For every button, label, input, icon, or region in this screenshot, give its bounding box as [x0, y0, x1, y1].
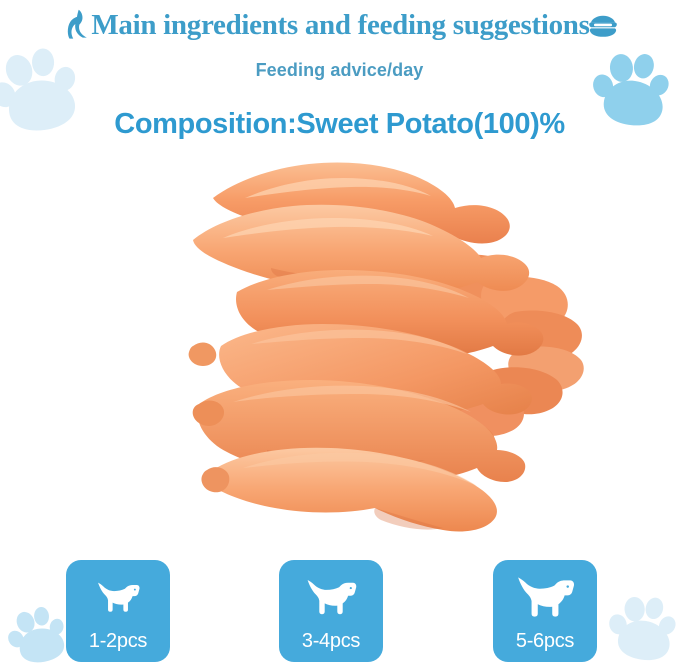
- feeding-label: 3-4pcs: [302, 631, 360, 662]
- feeding-label: 5-6pcs: [516, 631, 574, 662]
- large-dog-icon: [493, 560, 597, 631]
- feeding-box-medium-dog[interactable]: 3-4pcs: [279, 560, 383, 662]
- subtitle: Feeding advice/day: [0, 60, 679, 81]
- medium-dog-icon: [279, 560, 383, 631]
- page-title: Main ingredients and feeding suggestions: [91, 11, 589, 40]
- dog-bowl-icon: [588, 14, 618, 43]
- feeding-box-large-dog[interactable]: 5-6pcs: [493, 560, 597, 662]
- paw-print-icon: [603, 587, 679, 672]
- feeding-label: 1-2pcs: [89, 631, 147, 662]
- composition-text: Composition:Sweet Potato(100)%: [0, 108, 679, 141]
- feeding-box-small-dog[interactable]: 1-2pcs: [66, 560, 170, 662]
- small-dog-icon: [66, 560, 170, 631]
- paw-print-icon: [3, 599, 76, 672]
- product-photo-sweet-potato-strips: [95, 140, 585, 540]
- dog-head-icon: [61, 7, 95, 46]
- infographic-page: Main ingredients and feeding suggestions…: [0, 0, 679, 672]
- header: Main ingredients and feeding suggestions: [0, 4, 679, 46]
